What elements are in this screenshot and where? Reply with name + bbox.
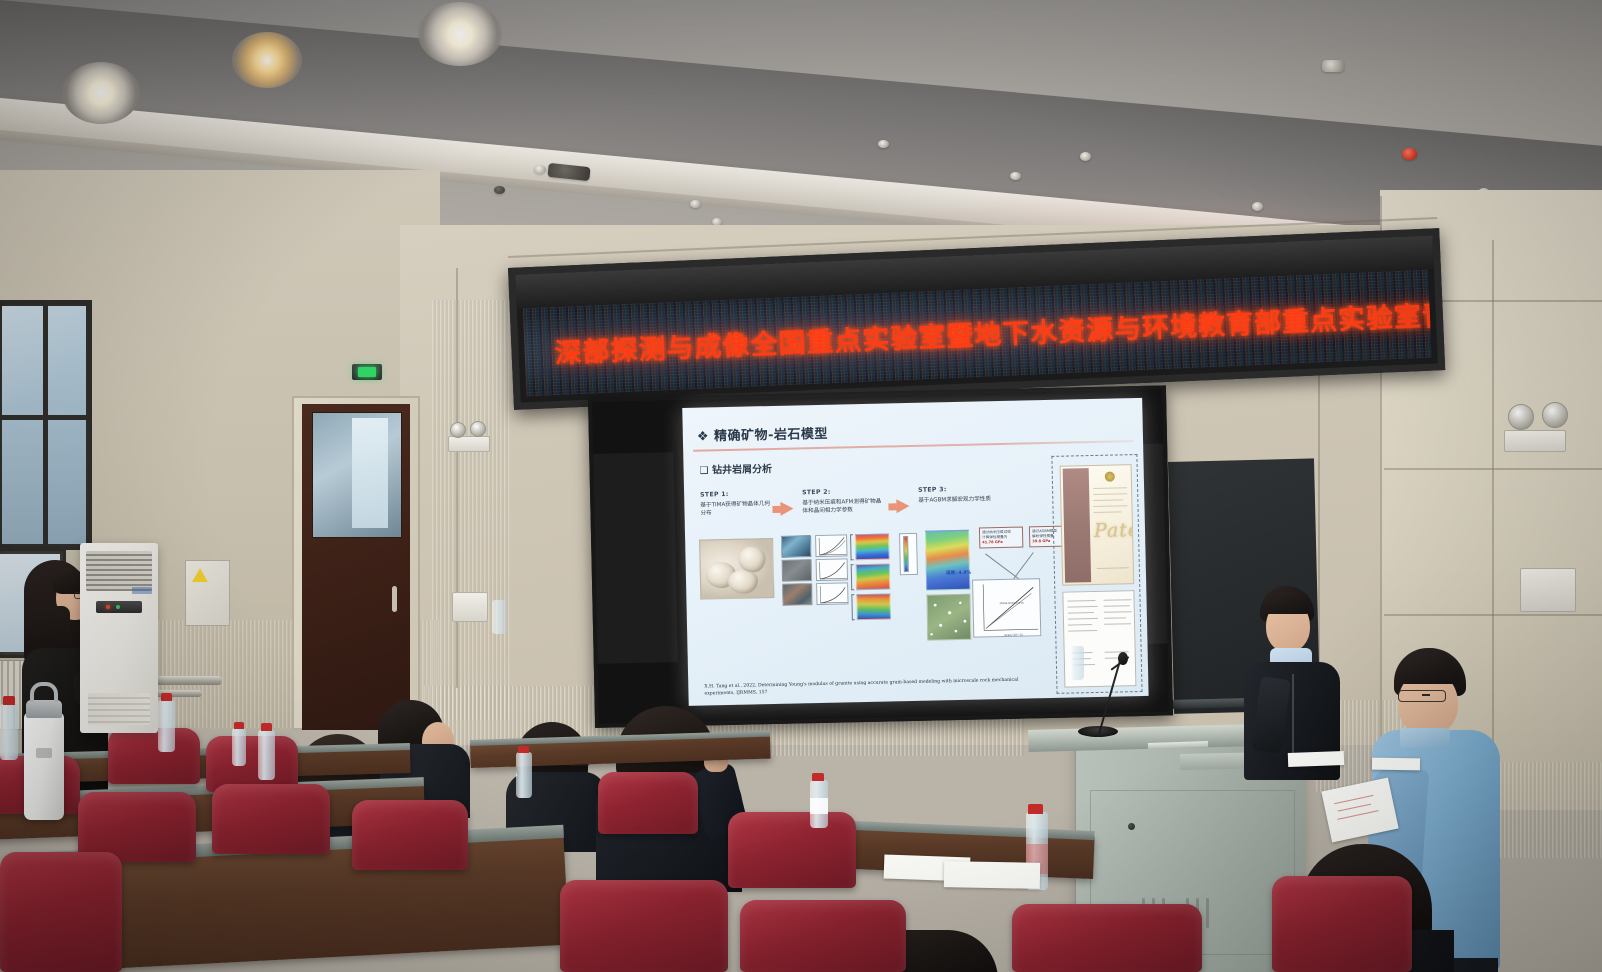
ac-brand-label <box>132 587 152 594</box>
stress-strain-plot <box>816 558 848 581</box>
microscopy-image <box>782 583 812 606</box>
sprinkler-icon <box>1010 172 1021 180</box>
sprinkler-icon <box>1080 152 1091 161</box>
wall-seam <box>1384 614 1602 616</box>
water-bottle[interactable] <box>232 728 246 766</box>
patent-text-line <box>1093 505 1127 507</box>
thermos-handle-icon <box>30 682 58 702</box>
water-bottle[interactable] <box>516 752 532 798</box>
doc-text-line <box>1068 618 1098 619</box>
mineral-map-heatmap <box>856 563 891 590</box>
microscopy-image <box>781 535 811 558</box>
wall-fluted-panel <box>432 300 510 720</box>
svg-text:stress-strain curve: stress-strain curve <box>1000 601 1025 606</box>
step-2-label: STEP 2: <box>802 489 831 497</box>
diamond-bullet-icon: ❖ <box>697 429 709 444</box>
bottle-label <box>810 798 828 814</box>
door-handle-icon[interactable] <box>392 586 397 612</box>
callout-box-1: 通过纳米压痕试验 计算弹性模量为 41.78 GPa <box>979 527 1023 549</box>
grain-structure-image <box>926 594 971 641</box>
doc-text-line <box>1104 623 1131 624</box>
ac-power-led-icon <box>106 605 110 609</box>
chair[interactable] <box>728 812 856 888</box>
bottle-cap <box>3 696 15 705</box>
conference-room-scene: 深部探测与成像全国重点实验室暨地下水资源与环境教育部重点实验室青年发展论坛 ❖ … <box>0 0 1602 972</box>
bottle-cap <box>1028 804 1043 814</box>
chair[interactable] <box>1012 904 1202 972</box>
doc-text-line <box>1104 611 1132 612</box>
rock-fragment <box>738 546 766 573</box>
running-man-icon <box>358 367 376 377</box>
wall-seam <box>1492 240 1494 800</box>
bracket-left <box>850 534 854 560</box>
emergency-lamp-icon <box>450 422 466 438</box>
plot-curve <box>816 535 848 558</box>
sprinkler-icon <box>878 140 889 148</box>
chair[interactable] <box>1272 876 1412 972</box>
microscopy-image <box>782 559 812 582</box>
fire-alarm-strobe-icon <box>1402 148 1417 160</box>
water-bottle[interactable] <box>1070 646 1084 680</box>
microphone-capsule-icon <box>1118 652 1128 665</box>
chair[interactable] <box>108 728 200 784</box>
smoke-detector-icon <box>494 186 505 194</box>
slide-citation: X.H. Tang et al., 2022, Determining Youn… <box>704 676 1044 698</box>
downlight-icon <box>418 2 502 66</box>
water-bottle[interactable] <box>258 730 275 780</box>
patent-text-line <box>1093 499 1123 500</box>
downlight-icon <box>62 62 140 124</box>
wall-speaker-box <box>452 592 488 622</box>
water-bottle[interactable] <box>158 700 175 752</box>
stress-strain-plot <box>815 534 847 557</box>
bottle-cap <box>518 746 529 753</box>
mineral-map-heatmap <box>855 533 890 560</box>
stress-strain-plot <box>816 582 848 605</box>
exit-sign <box>352 364 382 380</box>
patent-ribbon <box>1063 468 1091 583</box>
bracket-left <box>851 594 855 620</box>
callout-1-value: 41.78 GPa <box>982 540 1003 544</box>
ac-lower-vent <box>88 693 150 725</box>
slide-title-text: 精确矿物-岩石模型 <box>714 427 828 444</box>
sprinkler-icon <box>1252 202 1263 211</box>
modulus-comparison-plot: stress-strain curve strain (10^-3) <box>972 578 1041 637</box>
wall-pipe <box>150 676 222 685</box>
sprinkler-icon <box>1322 60 1344 72</box>
thermos-lid <box>26 700 62 718</box>
screen-side-panel-left <box>593 452 678 664</box>
paper-handwriting <box>1338 804 1371 812</box>
ac-status-led-icon <box>116 605 120 609</box>
chair[interactable] <box>0 852 122 972</box>
hair-front <box>1262 592 1310 614</box>
wall-control-panel[interactable] <box>1520 568 1576 612</box>
bottle-cap <box>234 722 244 729</box>
sprinkler-icon <box>690 200 701 208</box>
chair[interactable] <box>212 784 330 854</box>
emergency-lamp-icon <box>1542 402 1568 428</box>
doc-text-line <box>1068 600 1096 601</box>
doc-text-line <box>1068 630 1097 631</box>
chair[interactable] <box>598 772 698 834</box>
desk-papers[interactable] <box>1288 751 1344 767</box>
chair[interactable] <box>740 900 906 972</box>
patent-certificate: Patent <box>1060 464 1135 586</box>
downlight-icon <box>232 32 302 88</box>
hair-front <box>1396 654 1460 684</box>
mineral-map-heatmap <box>856 593 891 620</box>
plot-curve <box>817 583 849 606</box>
shirt-collar <box>1400 728 1450 748</box>
bottle-cap <box>812 773 824 781</box>
doc-text-line <box>1104 605 1130 606</box>
emergency-light-unit <box>1504 430 1566 452</box>
step-2-text: 基于纳米压痕和AFM测得矿物晶体和晶间相力学参数 <box>802 499 882 517</box>
step-1-label: STEP 1: <box>700 491 729 499</box>
patent-text-line <box>1093 487 1127 489</box>
square-bullet-icon: ❑ <box>700 465 709 476</box>
stress-field-contour <box>925 530 970 591</box>
desk-papers[interactable] <box>944 861 1040 889</box>
patent-text-line <box>1094 511 1122 512</box>
thermos-bottle[interactable] <box>24 712 64 820</box>
door-glass-reflection <box>352 418 388 528</box>
step-arrow-2-tail <box>888 503 896 510</box>
doc-text-line <box>1104 617 1126 618</box>
plot-axes: stress-strain curve strain (10^-3) <box>973 579 1042 638</box>
wall-seam <box>456 268 458 688</box>
water-bottle[interactable] <box>492 600 506 634</box>
svg-text:strain (10^-3): strain (10^-3) <box>1004 633 1022 637</box>
patent-word: Patent <box>1094 519 1134 542</box>
step-3-label: STEP 3: <box>918 486 947 494</box>
doc-text-line <box>1068 612 1094 613</box>
slide-subtitle-text: 钻井岩屑分析 <box>712 464 772 476</box>
error-label: 误差: 4.8% <box>946 570 971 577</box>
lectern-lock-icon[interactable] <box>1128 823 1135 830</box>
step-1-text: 基于TIMA获得矿物晶体几何分布 <box>700 501 774 518</box>
colorbar-gradient <box>903 536 909 572</box>
glasses-icon <box>1398 690 1446 702</box>
step-arrow-1-tail <box>772 506 780 513</box>
doc-text-line <box>1068 606 1098 607</box>
emergency-lamp-icon <box>470 421 486 437</box>
emergency-lamp-icon <box>1508 404 1534 430</box>
plot-curve <box>817 559 849 582</box>
window-mullion <box>43 303 48 547</box>
glasses-bridge-icon <box>1422 694 1430 696</box>
water-bottle[interactable] <box>0 704 18 760</box>
chair[interactable] <box>352 800 468 870</box>
air-conditioner <box>80 543 158 733</box>
doc-text-line <box>1104 599 1132 600</box>
ac-vent-grille <box>86 551 152 591</box>
projection-screen: ❖ 精确矿物-岩石模型 ❑ 钻井岩屑分析 STEP 1: 基于TIMA获得矿物晶… <box>588 385 1173 728</box>
patent-text-line <box>1093 493 1127 495</box>
step-arrow-2-icon <box>896 499 909 513</box>
doc-text-line <box>1068 624 1092 625</box>
paper-handwriting <box>1334 795 1373 804</box>
thermos-logo <box>36 748 52 758</box>
slide-subtitle: ❑ 钻井岩屑分析 <box>699 460 772 477</box>
step-arrow-1-icon <box>780 502 793 516</box>
slide-title: ❖ 精确矿物-岩石模型 <box>697 423 828 445</box>
electrical-box <box>185 560 230 626</box>
callout-leader-line <box>985 553 1022 581</box>
bottle-cap <box>161 693 172 701</box>
window-mullion <box>0 415 89 420</box>
window <box>0 300 92 550</box>
bracket-left <box>851 564 855 590</box>
desk-papers[interactable] <box>1372 758 1420 771</box>
sprinkler-icon <box>534 165 546 174</box>
lectern-vent <box>1206 898 1209 928</box>
step-3-text: 基于AGBM求解宏观力学性质 <box>918 496 1004 506</box>
chair[interactable] <box>560 880 728 972</box>
patent-text-line <box>1097 567 1129 568</box>
wall-seam <box>1384 468 1602 470</box>
bottle-cap <box>261 723 272 731</box>
callout-2-value: 39.8 GPa <box>1032 539 1050 543</box>
rock-specimen-photo <box>699 538 774 600</box>
rock-fragment <box>728 569 759 594</box>
patent-seal-icon <box>1105 472 1115 482</box>
paper-handwriting <box>1337 810 1378 820</box>
emergency-light-unit <box>448 436 490 452</box>
